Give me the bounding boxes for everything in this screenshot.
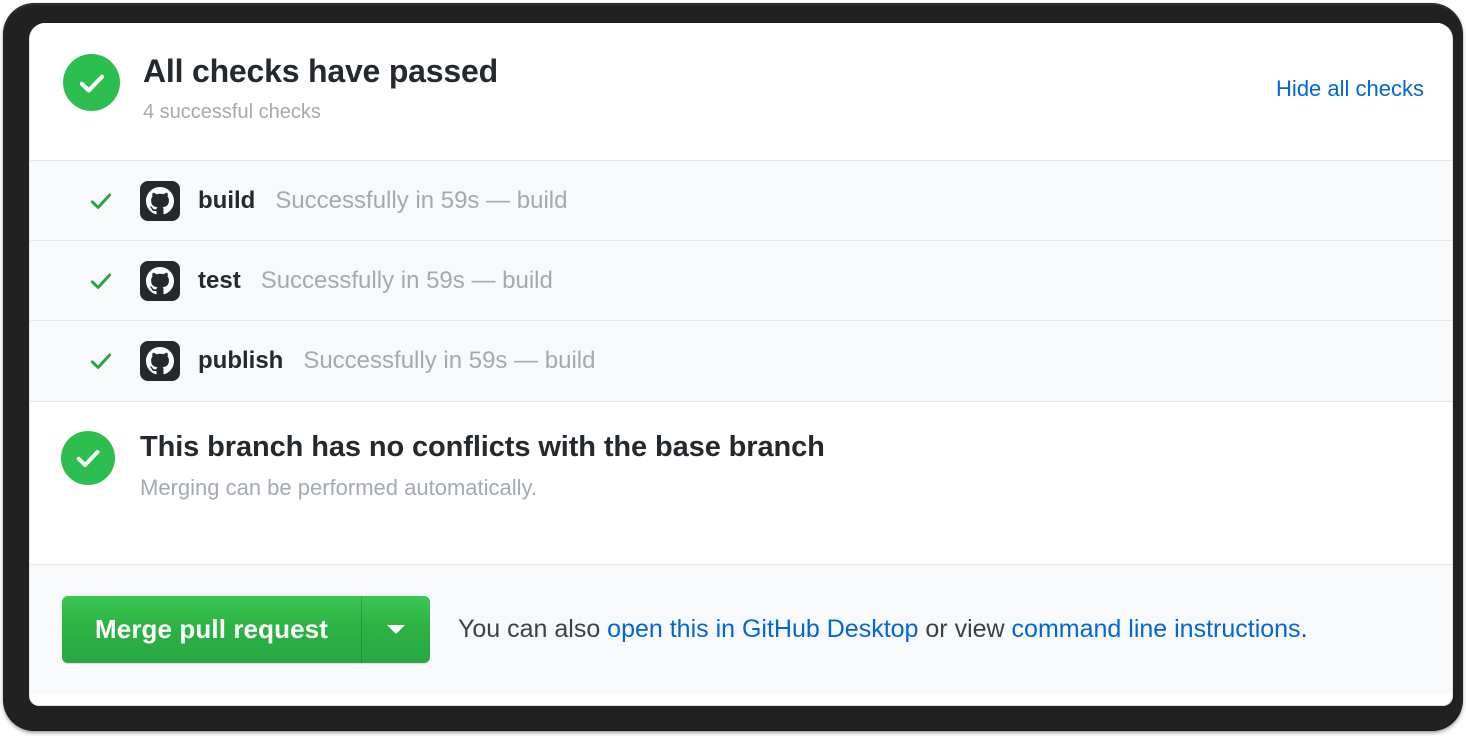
merge-footer: Merge pull request You can also open thi… — [30, 565, 1452, 694]
help-text-prefix: You can also — [458, 615, 607, 643]
page-title: All checks have passed — [143, 52, 498, 90]
check-circle-icon — [63, 54, 120, 111]
github-octocat-icon — [140, 261, 180, 301]
branch-conflict-section: This branch has no conflicts with the ba… — [30, 402, 1452, 565]
merge-pull-request-button[interactable]: Merge pull request — [62, 596, 362, 663]
header-text-block: All checks have passed 4 successful chec… — [143, 51, 498, 125]
help-text-middle: or view — [918, 615, 1011, 643]
check-icon — [87, 348, 115, 374]
merge-options-dropdown-button[interactable] — [362, 596, 430, 663]
device-frame: All checks have passed 4 successful chec… — [4, 4, 1462, 730]
check-icon — [87, 188, 115, 214]
merge-button-group: Merge pull request — [62, 596, 430, 663]
check-name: publish — [198, 347, 283, 375]
check-circle-icon — [61, 431, 115, 485]
branch-status-title: This branch has no conflicts with the ba… — [140, 429, 825, 465]
branch-status-subtitle: Merging can be performed automatically. — [140, 474, 825, 502]
help-text-suffix: . — [1301, 615, 1308, 643]
check-name: build — [198, 187, 255, 215]
table-row[interactable]: publish Successfully in 59s — build — [30, 321, 1452, 401]
branch-text-block: This branch has no conflicts with the ba… — [140, 429, 825, 502]
checks-list: build Successfully in 59s — build test S… — [30, 161, 1452, 402]
command-line-instructions-link[interactable]: command line instructions — [1012, 615, 1301, 643]
merge-help-text: You can also open this in GitHub Desktop… — [458, 615, 1308, 644]
github-octocat-icon — [140, 341, 180, 381]
check-description: Successfully in 59s — build — [303, 347, 595, 375]
hide-all-checks-link[interactable]: Hide all checks — [1276, 76, 1424, 102]
table-row[interactable]: test Successfully in 59s — build — [30, 241, 1452, 321]
open-in-github-desktop-link[interactable]: open this in GitHub Desktop — [607, 615, 918, 643]
check-name: test — [198, 267, 241, 295]
checks-header: All checks have passed 4 successful chec… — [30, 23, 1452, 161]
check-icon — [87, 268, 115, 294]
merge-box-card: All checks have passed 4 successful chec… — [29, 23, 1453, 706]
github-octocat-icon — [140, 181, 180, 221]
check-description: Successfully in 59s — build — [261, 267, 553, 295]
table-row[interactable]: build Successfully in 59s — build — [30, 161, 1452, 241]
check-description: Successfully in 59s — build — [275, 187, 567, 215]
checks-summary: 4 successful checks — [143, 99, 498, 125]
chevron-down-icon — [387, 625, 405, 634]
